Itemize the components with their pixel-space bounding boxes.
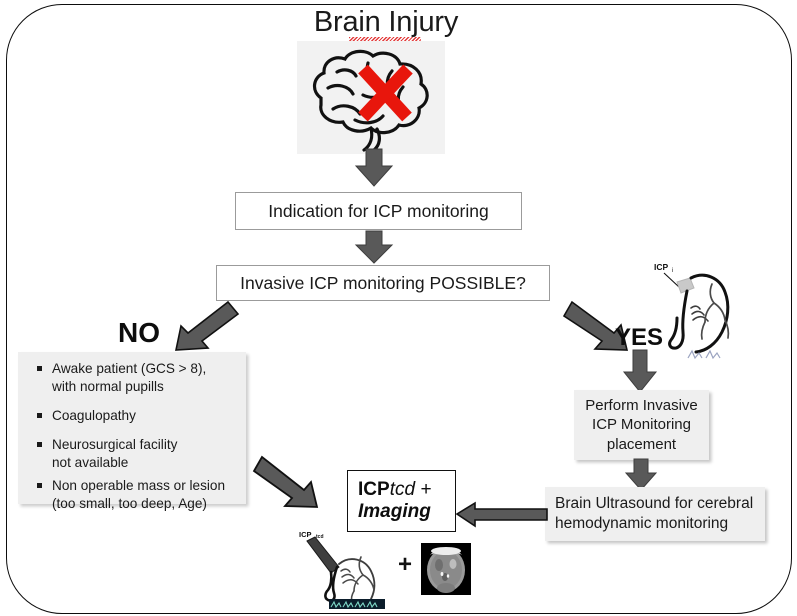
box-perform-invasive-icp-monitoring[interactable]: Perform Invasive ICP Monitoring placemen…: [574, 390, 709, 460]
arrow-ultrasound-to-icptcd: [457, 502, 549, 528]
list-item: Awake patient (GCS > 8), with normal pup…: [26, 360, 240, 396]
box-icptcd-bold-part: ICP: [358, 479, 390, 500]
svg-text:ICP: ICP: [299, 530, 312, 539]
list-item: Non operable mass or lesion (too small, …: [26, 477, 240, 513]
box-indication-label: Indication for ICP monitoring: [268, 201, 489, 222]
box-indication-for-icp-monitoring[interactable]: Indication for ICP monitoring: [235, 192, 522, 230]
page-title-text: Brain Injury: [314, 6, 458, 38]
list-item: Neurosurgical facility not available: [26, 436, 240, 472]
box-perform-line3: placement: [607, 435, 676, 454]
box-brain-ultrasound-hemodynamic-monitoring[interactable]: Brain Ultrasound for cerebral hemodynami…: [545, 487, 765, 541]
box-ultrasound-line2: hemodynamic monitoring: [555, 514, 728, 534]
box-possible-label: Invasive ICP monitoring POSSIBLE?: [240, 273, 526, 294]
diagram-canvas: Brain Injury: [0, 0, 797, 616]
box-invasive-icp-monitoring-possible[interactable]: Invasive ICP monitoring POSSIBLE?: [216, 265, 550, 301]
list-item: Coagulopathy: [26, 407, 240, 425]
head-ct-scan-image: [421, 543, 471, 595]
branch-label-no: NO: [118, 317, 160, 349]
no-criteria-list: Awake patient (GCS > 8), with normal pup…: [26, 360, 240, 514]
box-perform-line2: ICP Monitoring: [592, 415, 691, 434]
brain-with-red-x-image: [297, 41, 445, 154]
box-icptcd-italic-part: tcd +: [390, 479, 432, 500]
plus-separator: +: [398, 551, 412, 579]
panel-no-criteria: Awake patient (GCS > 8), with normal pup…: [18, 352, 246, 504]
box-icptcd-line1: ICPtcd +: [358, 479, 455, 501]
arrow-possible-to-no: [150, 300, 240, 360]
page-title: Brain Injury: [286, 6, 486, 39]
box-perform-line1: Perform Invasive: [585, 396, 698, 415]
head-profile-with-icp-bolt-image: ICP i: [650, 258, 748, 370]
arrow-indication-to-possible: [355, 231, 395, 265]
box-ultrasound-line1: Brain Ultrasound for cerebral: [555, 494, 753, 514]
svg-text:i: i: [672, 268, 673, 274]
transcranial-doppler-probe-image: ICP tcd: [297, 527, 402, 609]
svg-text:ICP: ICP: [654, 262, 669, 272]
arrow-brain-to-indication: [355, 149, 395, 189]
arrow-yes-to-perform: [624, 350, 660, 394]
arrow-no-to-icptcd: [252, 455, 352, 517]
box-icptcd-line2: Imaging: [358, 501, 455, 523]
box-icptcd-plus-imaging[interactable]: ICPtcd + Imaging: [347, 470, 456, 532]
branch-label-no-text: NO: [118, 317, 160, 348]
